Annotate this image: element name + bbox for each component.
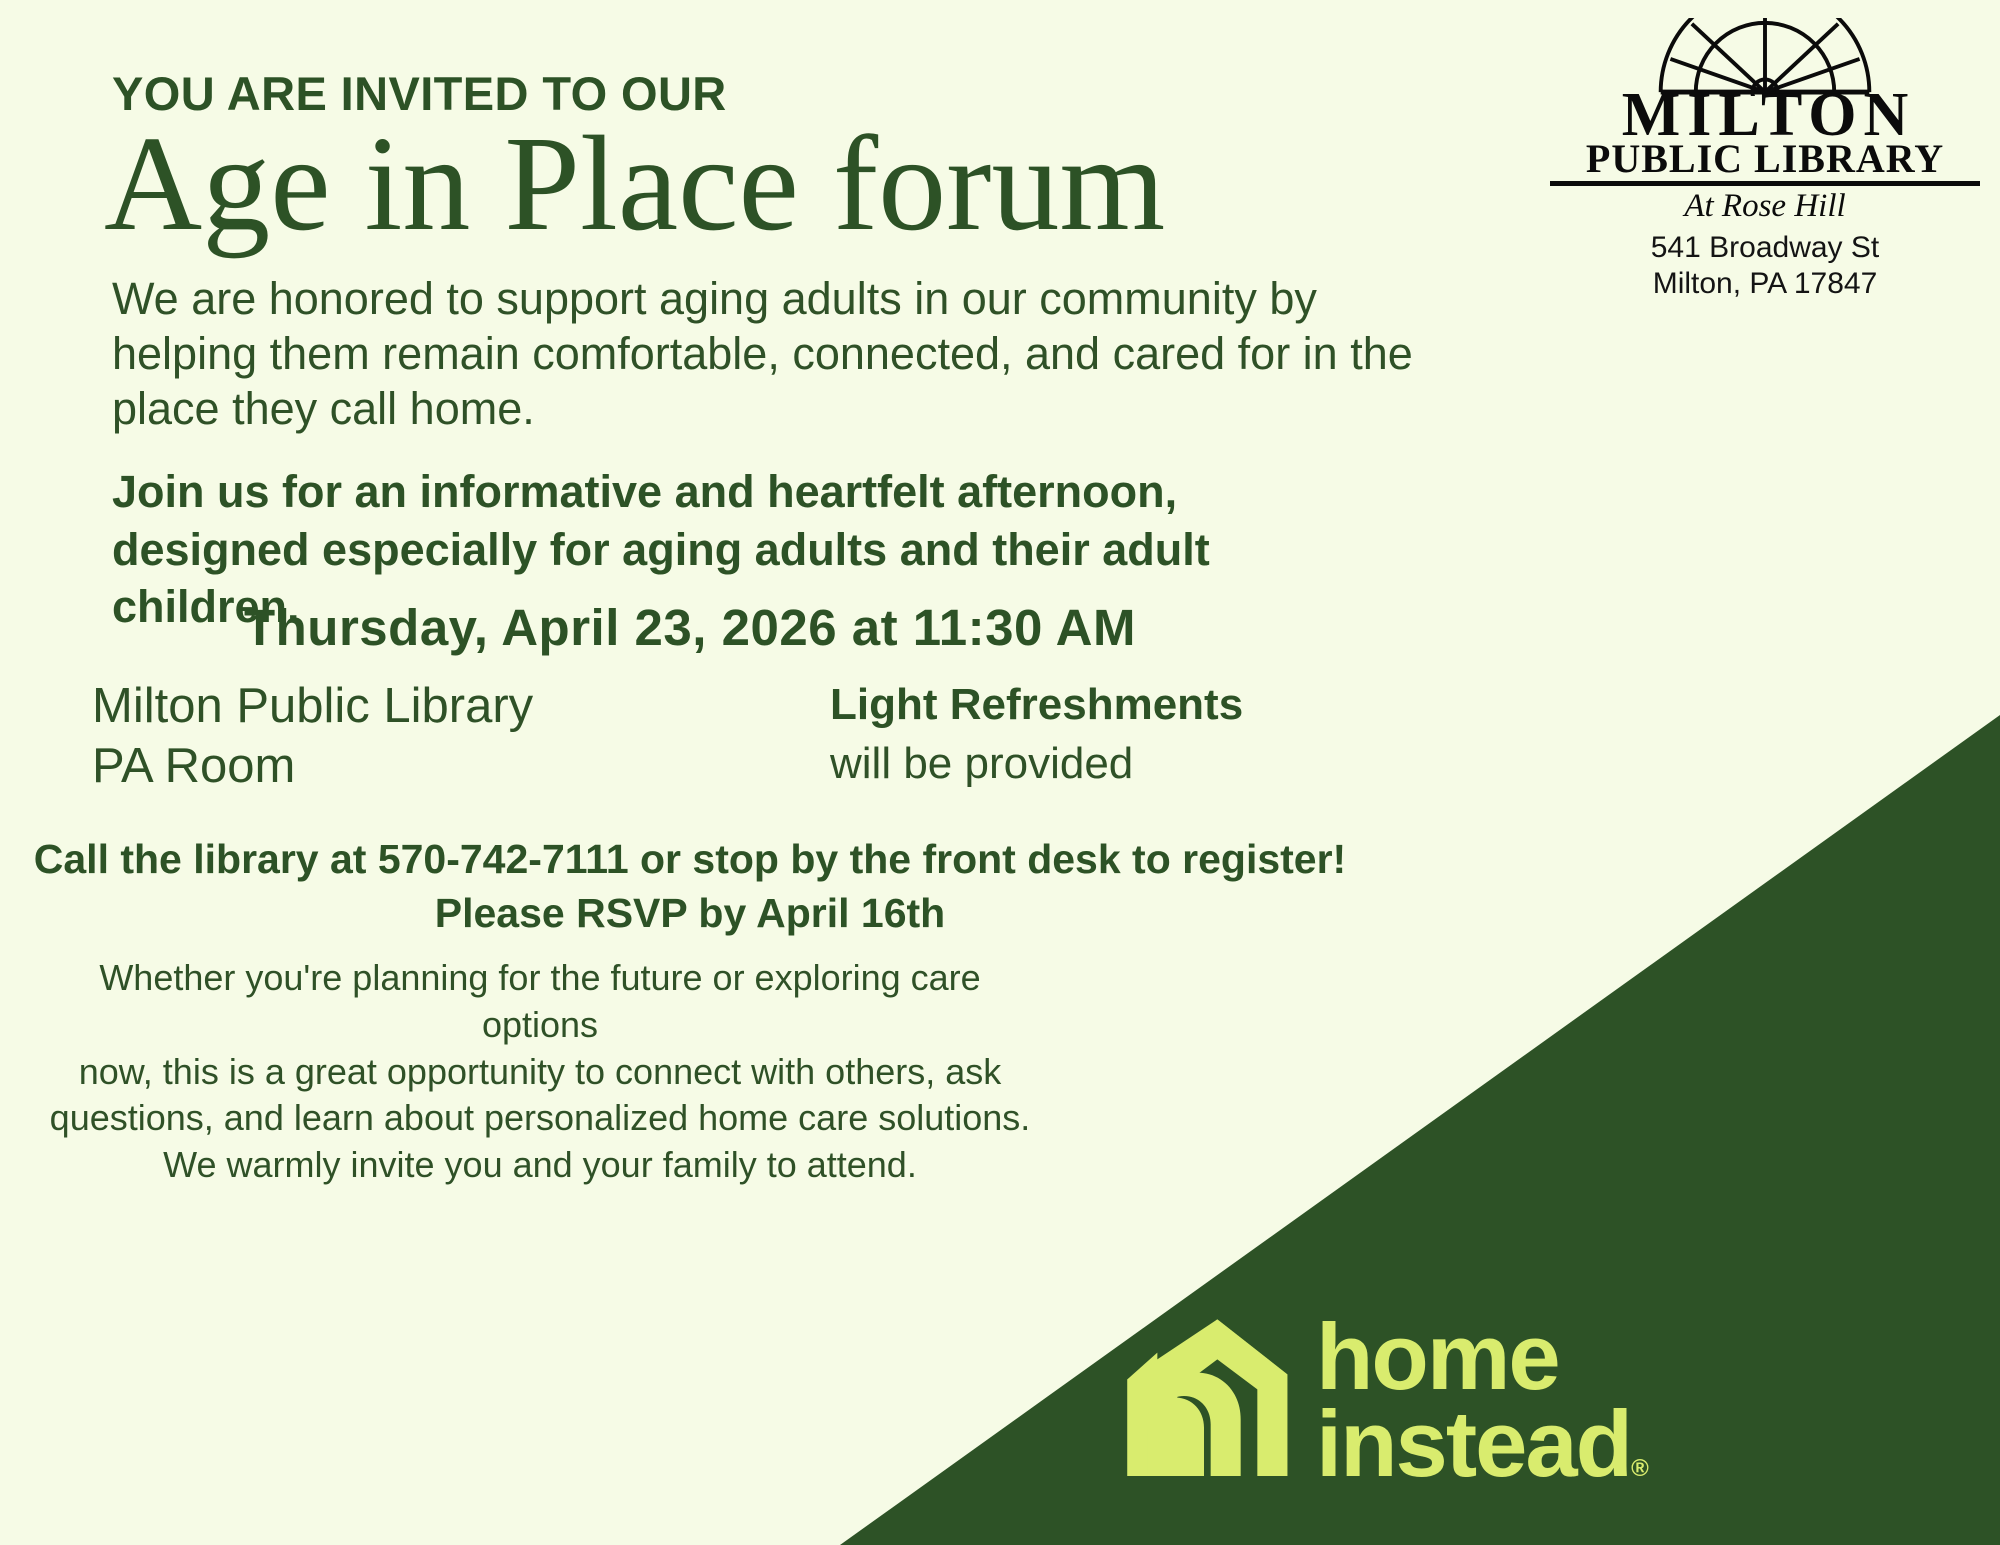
library-address: 541 Broadway St Milton, PA 17847 [1550,230,1980,301]
home-instead-word2-row: instead® [1316,1401,1649,1487]
library-tagline: At Rose Hill [1550,188,1980,224]
home-instead-logo: home instead® [1120,1314,1649,1487]
registration-instructions: Call the library at 570-742-7111 or stop… [0,832,1380,940]
library-address-line2: Milton, PA 17847 [1550,266,1980,301]
intro-paragraph: We are honored to support aging adults i… [112,272,1432,437]
home-instead-wordmark: home instead® [1316,1314,1649,1487]
registered-trademark-icon: ® [1631,1455,1649,1482]
flyer-canvas: MILTON PUBLIC LIBRARY At Rose Hill 541 B… [0,0,2000,1545]
registration-line1: Call the library at 570-742-7111 or stop… [0,832,1380,886]
closing-line3: questions, and learn about personalized … [40,1095,1040,1142]
refreshments-subtitle: will be provided [830,737,1243,791]
page-title: Age in Place forum [104,116,1165,252]
home-instead-word2: instead [1316,1391,1631,1496]
event-venue: Milton Public Library PA Room [92,677,533,797]
refreshments-block: Light Refreshments will be provided [830,679,1243,791]
library-address-line1: 541 Broadway St [1550,230,1980,265]
library-name-secondary: PUBLIC LIBRARY [1550,139,1980,186]
home-instead-word1: home [1316,1314,1649,1400]
registration-line2: Please RSVP by April 16th [0,886,1380,940]
event-datetime: Thursday, April 23, 2026 at 11:30 AM [0,598,1380,657]
refreshments-title: Light Refreshments [830,679,1243,731]
house-h-icon [1120,1316,1288,1486]
closing-paragraph: Whether you're planning for the future o… [40,955,1040,1189]
closing-line1: Whether you're planning for the future o… [40,955,1040,1049]
closing-line4: We warmly invite you and your family to … [40,1142,1040,1189]
library-logo: MILTON PUBLIC LIBRARY At Rose Hill 541 B… [1550,18,1980,301]
closing-line2: now, this is a great opportunity to conn… [40,1049,1040,1096]
venue-line1: Milton Public Library [92,677,533,737]
venue-line2: PA Room [92,737,533,797]
